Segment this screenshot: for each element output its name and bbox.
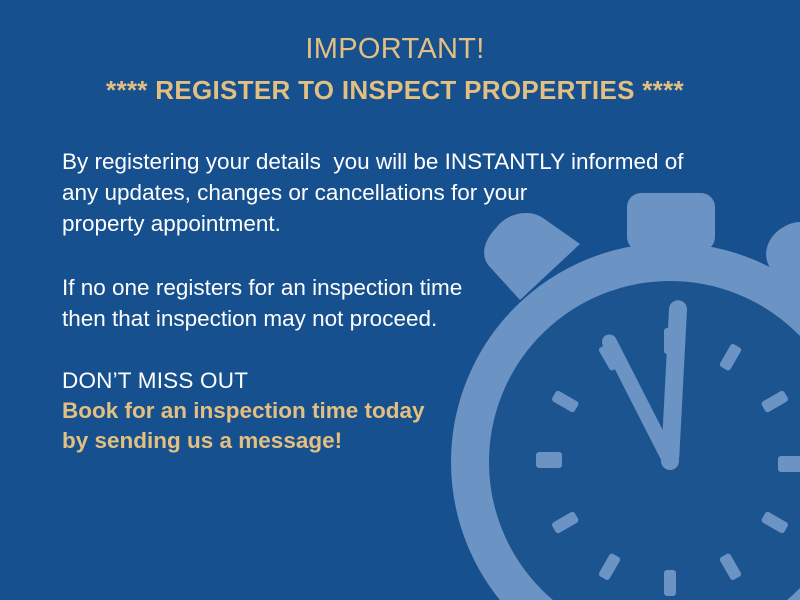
headline-primary: IMPORTANT! <box>0 33 790 66</box>
slide-canvas: IMPORTANT! **** REGISTER TO INSPECT PROP… <box>0 0 800 600</box>
paragraph-no-registration-warning: If no one registers for an inspection ti… <box>62 272 462 334</box>
call-to-action-block: DON’T MISS OUT Book for an inspection ti… <box>62 366 425 456</box>
text-content-layer: IMPORTANT! **** REGISTER TO INSPECT PROP… <box>0 0 800 600</box>
paragraph-registration-benefit: By registering your details you will be … <box>62 146 684 239</box>
headline-secondary: **** REGISTER TO INSPECT PROPERTIES **** <box>0 75 790 106</box>
cta-kicker: DON’T MISS OUT <box>62 366 425 396</box>
cta-line-book: Book for an inspection time today <box>62 396 425 426</box>
cta-line-message: by sending us a message! <box>62 426 425 456</box>
